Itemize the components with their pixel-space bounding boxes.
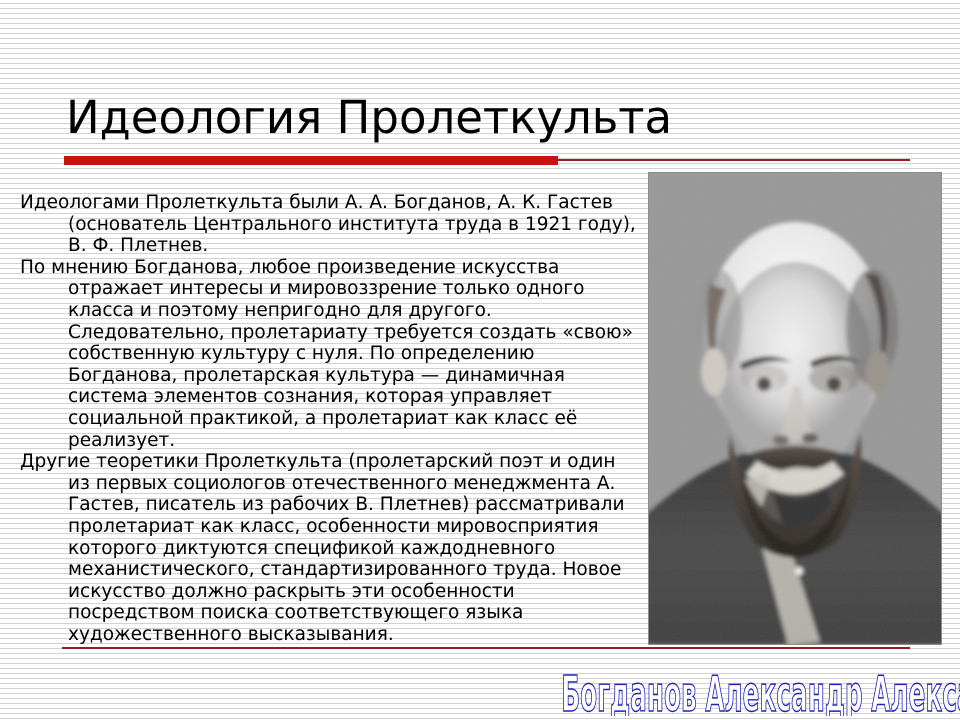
body-paragraph-3: Другие теоретики Пролеткульта (пролетарс… [20,451,638,645]
title-accent-line [558,159,910,161]
footer-rule [62,647,910,649]
title-accent-bar [64,156,558,165]
caption-text: Богданов Александр Александрович [561,667,960,716]
slide: Идеология Пролеткульта Идеологами Пролет… [0,0,960,720]
body-paragraph-1: Идеологами Пролеткульта были А. А. Богда… [20,192,638,257]
portrait-photo [648,172,942,645]
caption-wordart: Богданов Александр Александрович [560,660,960,716]
body-text: Идеологами Пролеткульта были А. А. Богда… [20,192,638,645]
body-paragraph-2: По мнению Богданова, любое произведение … [20,257,638,451]
page-title: Идеология Пролеткульта [66,92,906,144]
